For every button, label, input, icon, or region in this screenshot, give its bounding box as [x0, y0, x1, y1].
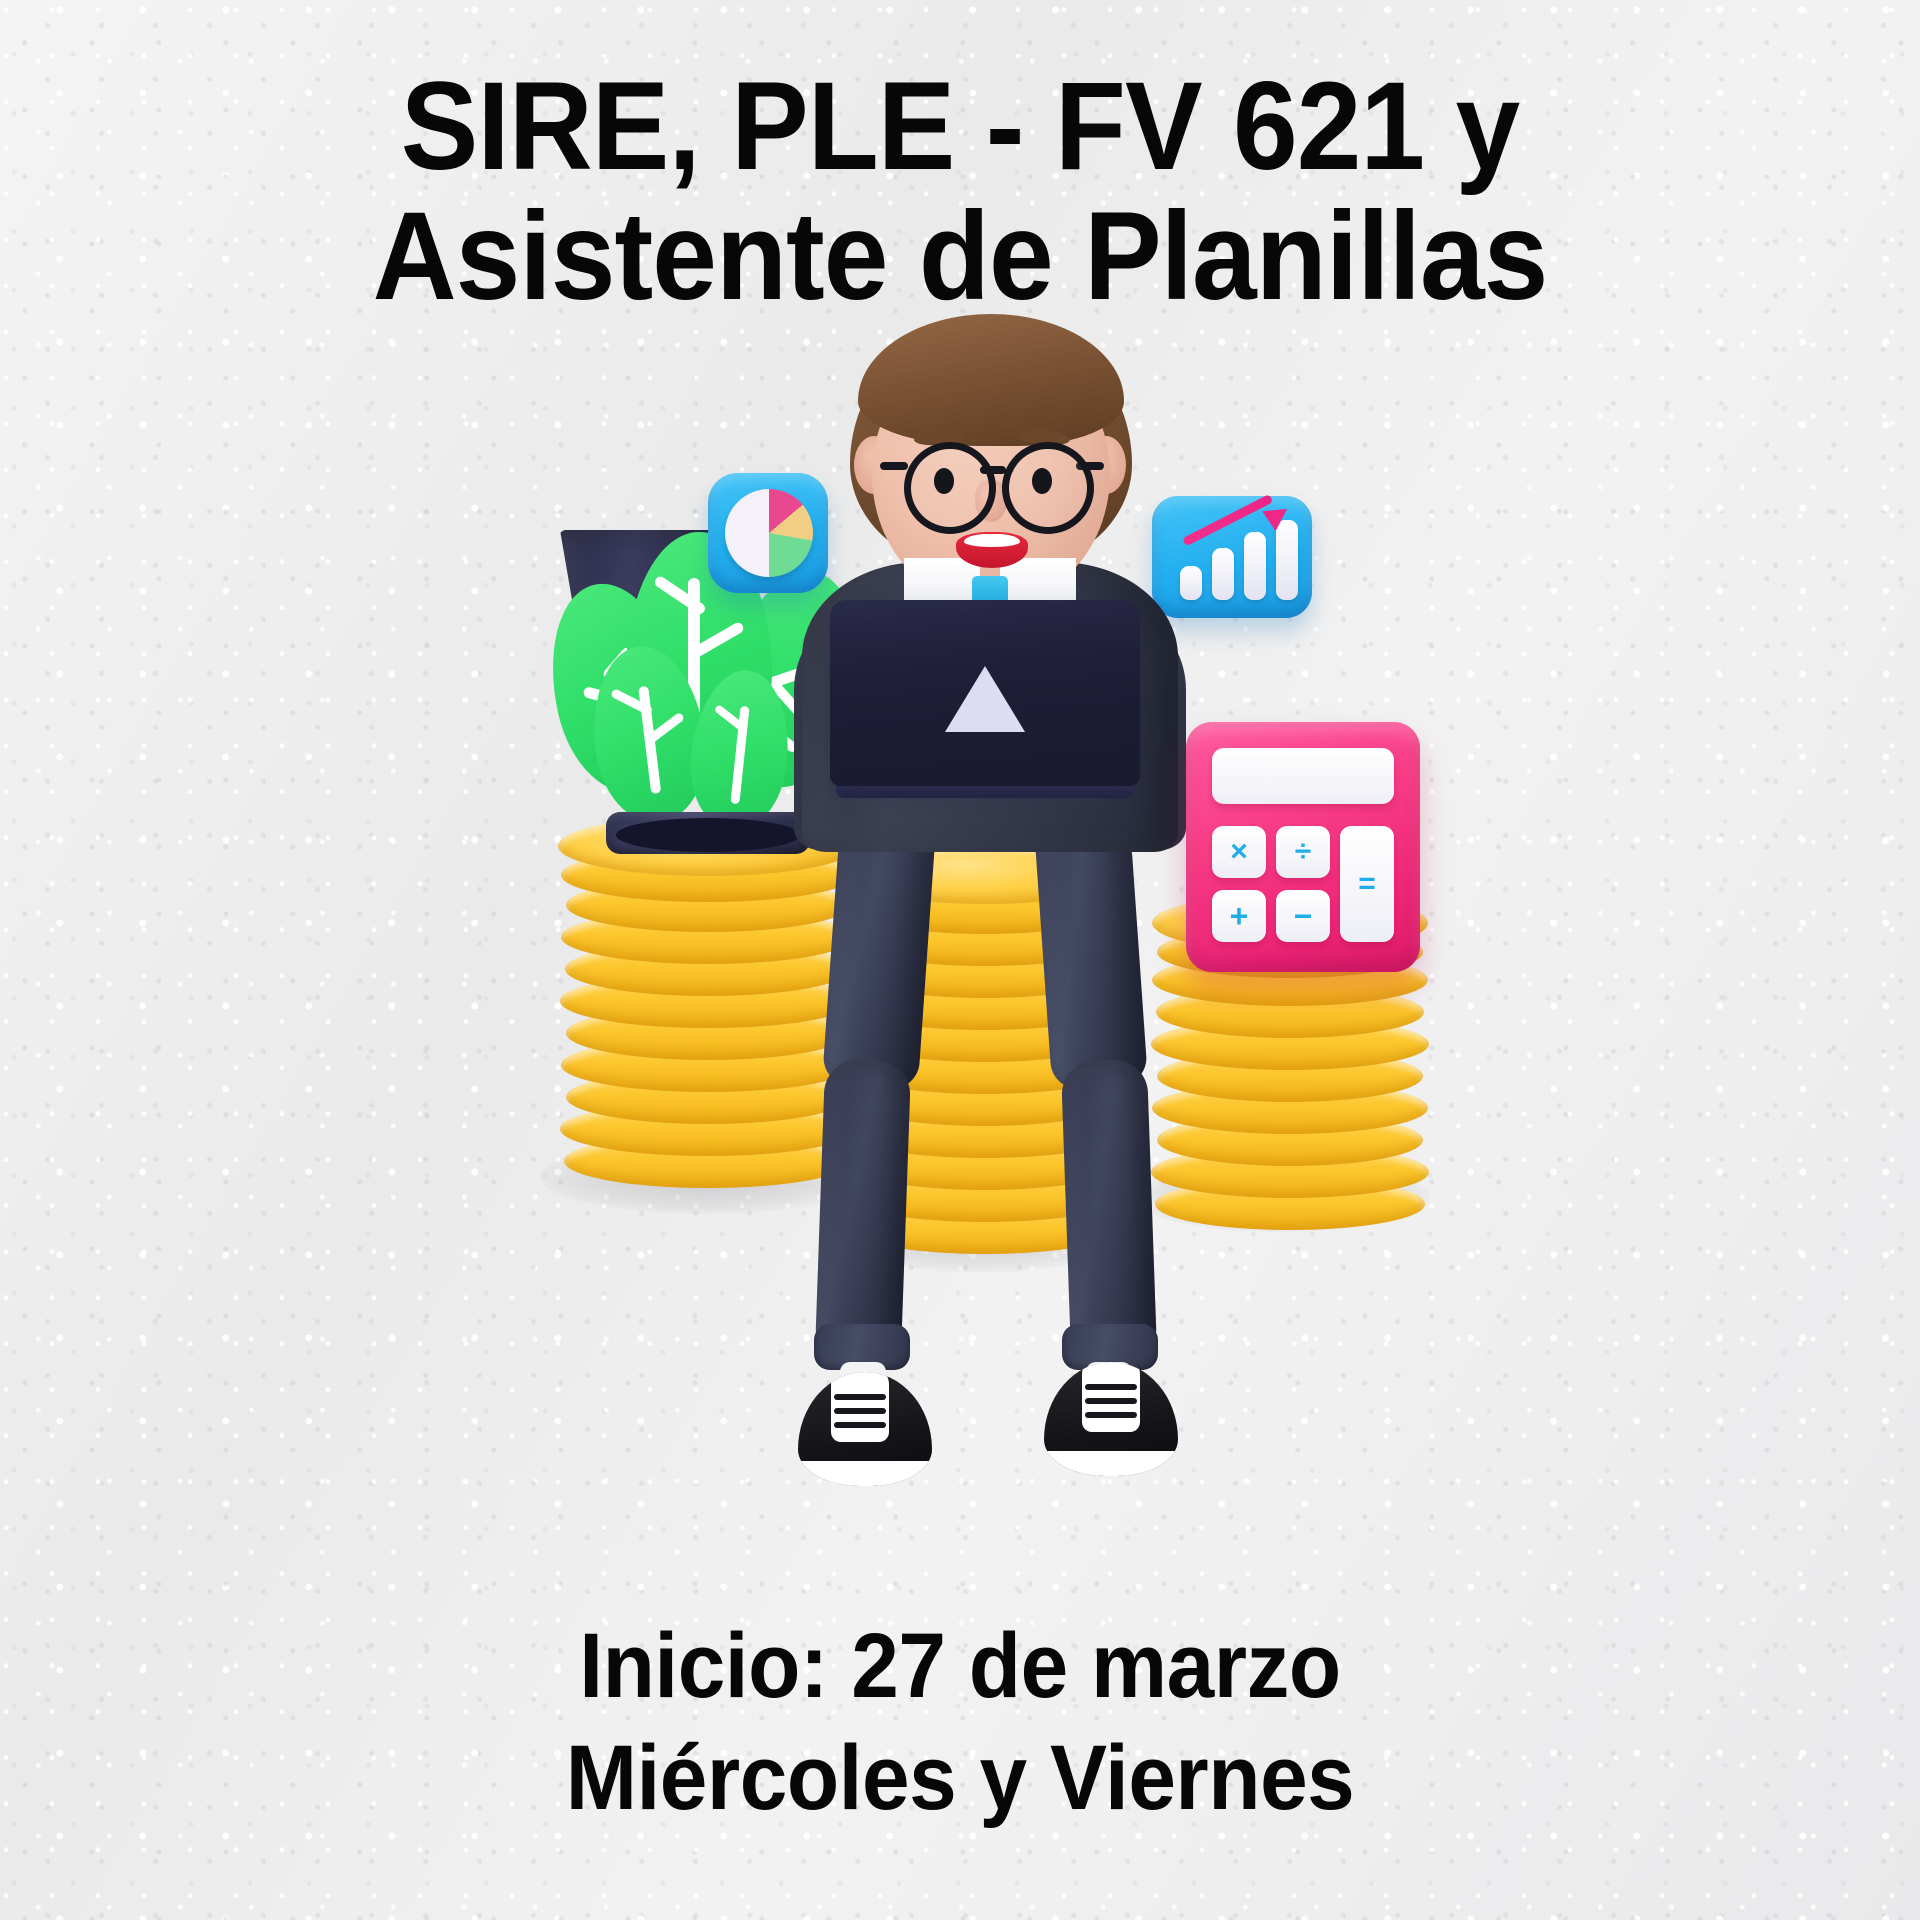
poster-canvas: SIRE, PLE - FV 621 y Asistente de Planil… — [0, 0, 1920, 1920]
shin-left — [815, 1059, 911, 1362]
glasses-arm-left — [880, 462, 908, 470]
shoe-tongue — [831, 1372, 889, 1442]
footer-text: Inicio: 27 de marzo Miércoles y Viernes — [0, 1610, 1920, 1834]
shoe-lace — [1085, 1398, 1136, 1404]
bar-4 — [1276, 520, 1298, 600]
footer-line-days: Miércoles y Viernes — [67, 1722, 1853, 1834]
calculator: × ÷ = + − — [1186, 722, 1420, 972]
shoe-tongue — [1082, 1362, 1140, 1432]
bar-2 — [1212, 548, 1234, 600]
calculator-display — [1212, 748, 1394, 804]
laptop-logo-triangle — [945, 666, 1025, 732]
calculator-key-divide[interactable]: ÷ — [1276, 826, 1330, 878]
footer-line-start-date: Inicio: 27 de marzo — [67, 1610, 1853, 1722]
teeth — [964, 534, 1020, 547]
shoe-lace — [1085, 1384, 1136, 1390]
shoe-lace — [834, 1408, 885, 1414]
calculator-key-multiply[interactable]: × — [1212, 826, 1266, 878]
hair-front — [858, 314, 1124, 446]
calculator-key-plus[interactable]: + — [1212, 890, 1266, 942]
illustration: × ÷ = + − — [0, 330, 1920, 1590]
shoe-sole — [1044, 1451, 1178, 1476]
bar-3 — [1244, 532, 1266, 600]
character — [780, 320, 1200, 1500]
calculator-key-equals[interactable]: = — [1340, 826, 1394, 942]
title-line-2: Asistente de Planillas — [67, 192, 1853, 322]
shoe-left — [798, 1372, 932, 1486]
shoe-right — [1044, 1362, 1178, 1476]
shin-right — [1061, 1059, 1157, 1362]
shoe-lace — [1085, 1412, 1136, 1418]
glasses-bridge — [980, 466, 1006, 474]
eye-right — [1032, 468, 1052, 494]
laptop — [830, 600, 1140, 800]
eye-left — [934, 468, 954, 494]
title-line-1: SIRE, PLE - FV 621 y — [67, 62, 1853, 192]
shoe-lace — [834, 1394, 885, 1400]
page-title: SIRE, PLE - FV 621 y Asistente de Planil… — [0, 62, 1920, 322]
pot-soil — [616, 818, 800, 852]
shoe-sole — [798, 1461, 932, 1486]
calculator-key-minus[interactable]: − — [1276, 890, 1330, 942]
shoe-lace — [834, 1422, 885, 1428]
